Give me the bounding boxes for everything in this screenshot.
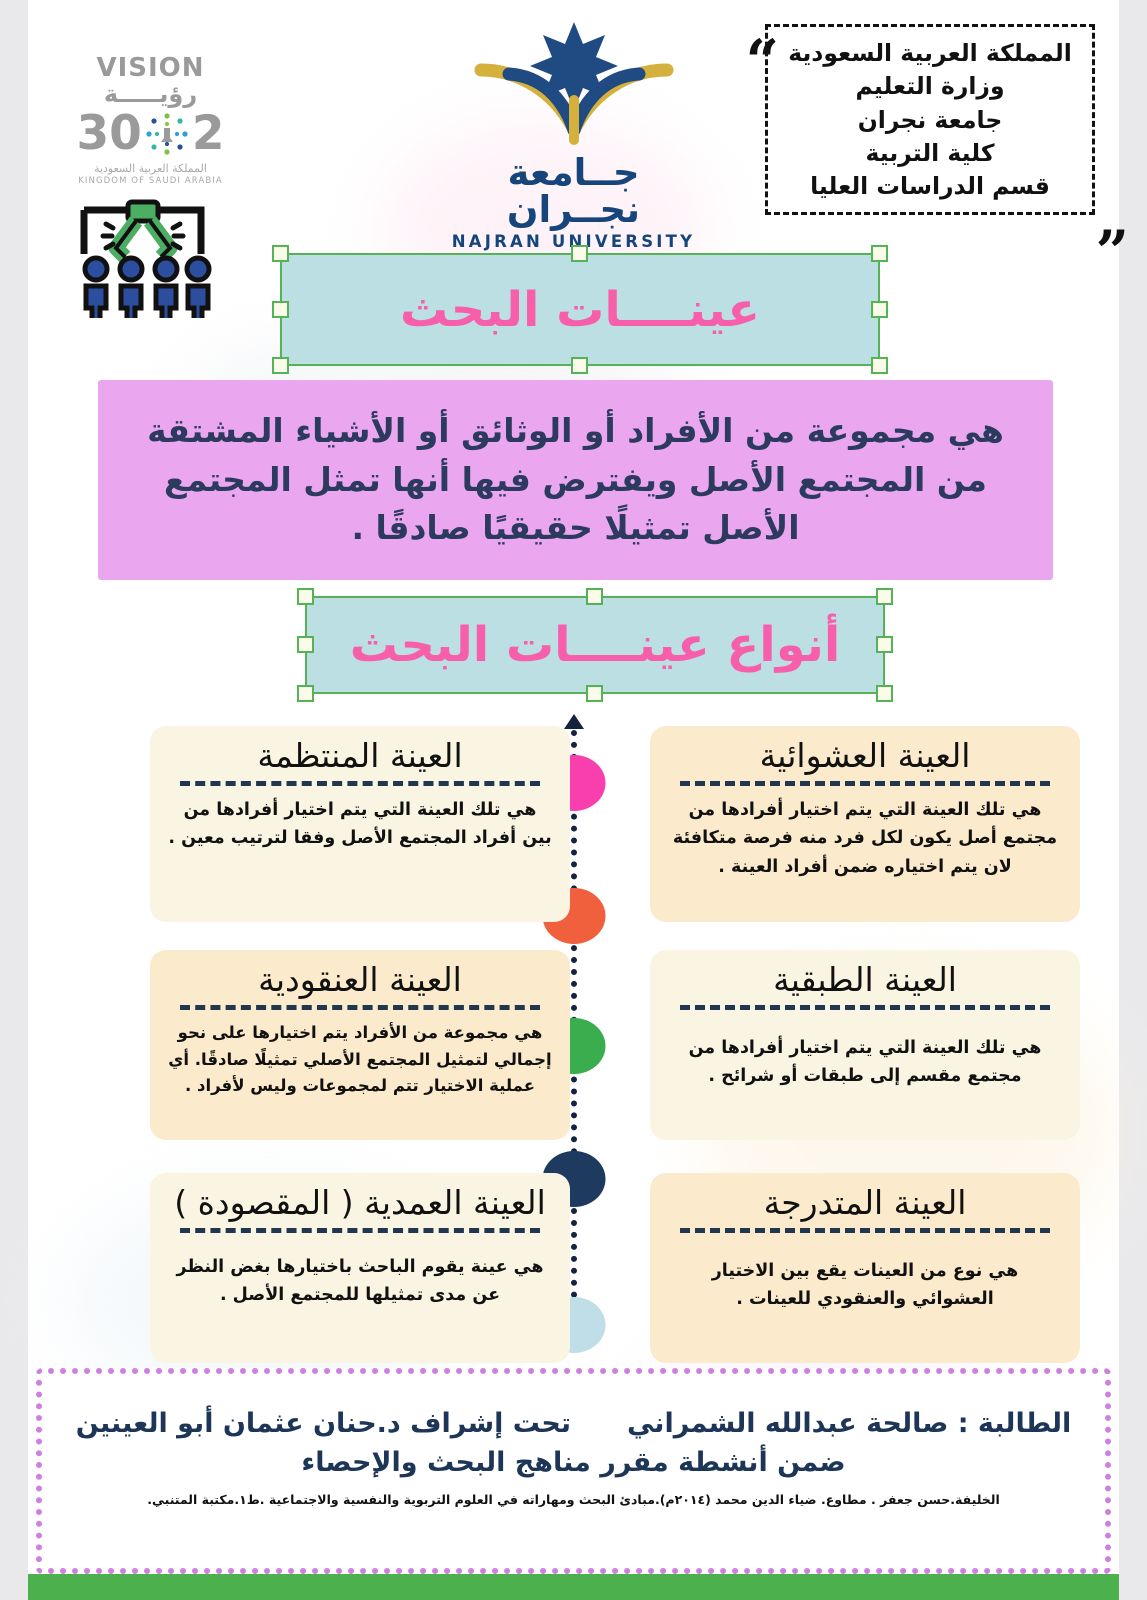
affiliation-line-3: كلية التربية: [784, 137, 1076, 170]
card-divider: [180, 781, 540, 786]
card-title: العينة المتدرجة: [668, 1185, 1062, 1222]
card-body: هي نوع من العينات يقع بين الاختيار العشو…: [668, 1243, 1062, 1314]
resize-handle-tl-2[interactable]: [297, 588, 314, 605]
bottom-green-bar: [28, 1574, 1119, 1600]
resize-handle-bc-2[interactable]: [586, 685, 603, 702]
vision-year-right: 30: [76, 110, 141, 157]
types-title-text: أنواع عينــــات البحث: [350, 621, 841, 669]
vision-word-ar: رؤيـــــة: [104, 80, 197, 108]
resize-handle-tr-2[interactable]: [876, 588, 893, 605]
card-title: العينة العمدية ( المقصودة ): [146, 1185, 574, 1222]
card-title: العينة الطبقية: [668, 962, 1062, 999]
card-divider: [680, 1005, 1050, 1010]
resize-handle-tc[interactable]: [571, 245, 588, 262]
vision-subtitle-ar: المملكة العربية السعودية: [68, 162, 233, 175]
resize-handle-ml-2[interactable]: [297, 636, 314, 653]
card-divider: [180, 1005, 540, 1010]
vision-word-en: VISION: [96, 53, 204, 83]
footer-panel: الطالبة : صالحة عبدالله الشمراني تحت إشر…: [36, 1368, 1111, 1574]
footer-supervisor: تحت إشراف د.حنان عثمان أبو العينين: [76, 1408, 571, 1439]
card-purposive-sample: العينة العمدية ( المقصودة ) هي عينة يقوم…: [150, 1173, 570, 1363]
resize-handle-tr[interactable]: [871, 245, 888, 262]
footer-student: الطالبة : صالحة عبدالله الشمراني: [627, 1408, 1071, 1439]
definition-text: هي مجموعة من الأفراد أو الوثائق أو الأشي…: [124, 407, 1027, 553]
card-body: هي عينة يقوم الباحث باختيارها بغض النظر …: [168, 1243, 552, 1310]
card-body: هي تلك العينة التي يتم اختيار أفرادها من…: [668, 796, 1062, 881]
header: VISION رؤيـــــة 2: [0, 0, 1147, 215]
page-edge-left: [0, 0, 28, 1600]
resize-handle-br[interactable]: [871, 357, 888, 374]
card-body: هي تلك العينة التي يتم اختيار أفرادها من…: [668, 1020, 1062, 1091]
resize-handle-mr-2[interactable]: [876, 636, 893, 653]
card-title: العينة العنقودية: [168, 962, 552, 999]
affiliation-line-4: قسم الدراسات العليا: [784, 170, 1076, 203]
poster-root: VISION رؤيـــــة 2: [0, 0, 1147, 1600]
affiliation-line-2: جامعة نجران: [784, 104, 1076, 137]
footer-reference: الخليفة.حسن جعفر . مطاوع. ضياء الدين محم…: [42, 1492, 1105, 1507]
resize-handle-ml[interactable]: [272, 301, 289, 318]
card-divider: [680, 781, 1050, 786]
resize-handle-br-2[interactable]: [876, 685, 893, 702]
types-title-box[interactable]: أنواع عينــــات البحث: [305, 596, 885, 694]
resize-handle-bc[interactable]: [571, 357, 588, 374]
resize-handle-tc-2[interactable]: [586, 588, 603, 605]
quote-close-glyph: ”: [1096, 235, 1129, 270]
card-graduated-sample: العينة المتدرجة هي نوع من العينات يقع بي…: [650, 1173, 1080, 1363]
main-title-box[interactable]: عينــــات البحث: [280, 253, 880, 366]
vision-year-left: 2: [192, 110, 225, 157]
card-random-sample: العينة العشوائية هي تلك العينة التي يتم …: [650, 726, 1080, 922]
vision-rosette-icon: [144, 111, 190, 157]
footer-course: ضمن أنشطة مقرر مناهج البحث والإحصاء: [42, 1447, 1105, 1478]
najran-university-logo: جــامعة نجــران NAJRAN UNIVERSITY: [439, 18, 709, 251]
card-divider: [180, 1228, 540, 1233]
resize-handle-bl-2[interactable]: [297, 685, 314, 702]
resize-handle-mr[interactable]: [871, 301, 888, 318]
card-title: العينة العشوائية: [668, 738, 1062, 775]
vision-2030-logo: VISION رؤيـــــة 2: [68, 55, 233, 186]
card-body: هي مجموعة من الأفراد يتم اختيارها على نح…: [168, 1020, 552, 1100]
definition-box: هي مجموعة من الأفراد أو الوثائق أو الأشي…: [98, 380, 1053, 580]
card-stratified-sample: العينة الطبقية هي تلك العينة التي يتم اخ…: [650, 950, 1080, 1140]
main-title-text: عينــــات البحث: [400, 286, 760, 334]
card-divider: [680, 1228, 1050, 1233]
university-emblem-icon: [459, 18, 689, 148]
university-name-ar: جــامعة نجــران: [439, 154, 709, 228]
affiliation-block: المملكة العربية السعودية وزارة التعليم ج…: [765, 24, 1095, 215]
card-title: العينة المنتظمة: [168, 738, 552, 775]
resize-handle-bl[interactable]: [272, 357, 289, 374]
resize-handle-tl[interactable]: [272, 245, 289, 262]
affiliation-line-0: المملكة العربية السعودية: [784, 37, 1076, 70]
card-cluster-sample: العينة العنقودية هي مجموعة من الأفراد يت…: [150, 950, 570, 1140]
vision-subtitle-en: KINGDOM OF SAUDI ARABIA: [68, 176, 233, 186]
affiliation-line-1: وزارة التعليم: [784, 70, 1076, 103]
sampling-people-icon: [70, 196, 215, 318]
card-body: هي تلك العينة التي يتم اختيار أفرادها من…: [168, 796, 552, 853]
card-systematic-sample: العينة المنتظمة هي تلك العينة التي يتم ا…: [150, 726, 570, 922]
